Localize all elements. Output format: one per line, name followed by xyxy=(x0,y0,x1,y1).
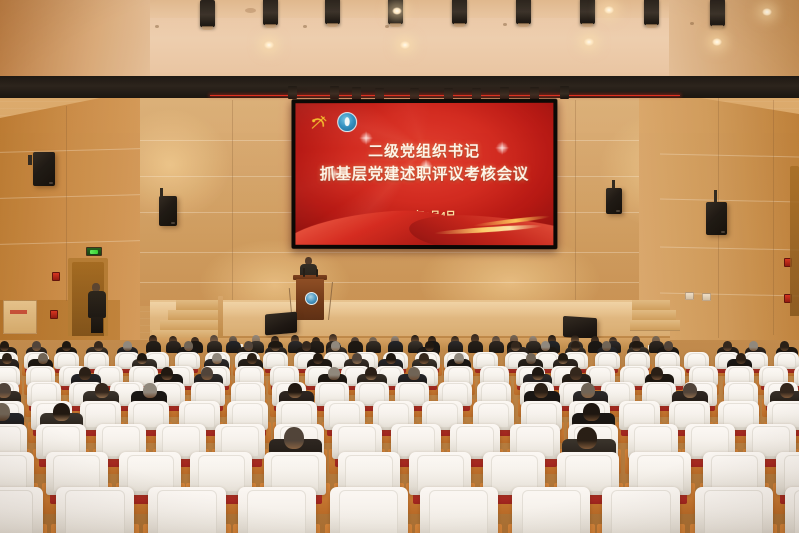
attendee-head xyxy=(79,367,91,380)
wall-speaker xyxy=(606,188,622,214)
attendee-head xyxy=(532,367,544,380)
track-spotlight xyxy=(452,0,467,24)
seat-with-white-cover[interactable] xyxy=(330,487,408,533)
track-spotlight xyxy=(644,0,659,25)
notice-red-text xyxy=(10,310,27,314)
attendee-head xyxy=(534,383,548,398)
stage-step-railing xyxy=(218,296,223,342)
wall-outlet xyxy=(702,293,711,301)
ceiling-sprinkler xyxy=(303,25,307,28)
attendee-head xyxy=(454,353,464,364)
screen-title-line-2: 抓基层党建述职评议考核会议 xyxy=(295,165,553,185)
person-legs xyxy=(91,317,103,333)
wall-panel-seam xyxy=(140,252,660,253)
attendee-head xyxy=(284,427,304,449)
ceiling-sprinkler xyxy=(385,25,389,28)
attendee-head xyxy=(62,341,71,351)
led-screen-frame: 二级党组织书记 抓基层党建述职评议考核会议 2022年1月4日 xyxy=(291,99,557,250)
attendee-head xyxy=(212,353,222,364)
attendee-head xyxy=(651,367,663,380)
attendee-head xyxy=(780,383,794,398)
attendee-head xyxy=(723,341,732,351)
podium-institution-emblem-icon xyxy=(305,292,318,305)
stage-spotlight xyxy=(352,87,361,100)
institution-emblem-icon xyxy=(337,112,357,132)
wall-outlet xyxy=(685,292,694,300)
attendee-head xyxy=(38,353,48,364)
track-spotlight xyxy=(580,0,595,24)
attendee-head xyxy=(0,341,9,351)
attendee-head xyxy=(632,341,641,351)
attendee-head xyxy=(577,427,597,449)
attendee-head xyxy=(583,403,600,421)
attendee-head xyxy=(570,367,582,380)
attendee-head xyxy=(0,383,11,398)
attendee-head xyxy=(137,353,147,364)
attendee-head xyxy=(541,341,550,351)
seat-with-white-cover[interactable] xyxy=(785,487,799,533)
attendee-head xyxy=(161,367,173,380)
fire-alarm-box xyxy=(50,310,58,319)
stage-floor-sheen xyxy=(150,302,670,318)
recessed-downlight xyxy=(712,38,722,46)
screen-title-line-1: 二级党组织书记 xyxy=(295,143,553,162)
wall-speaker xyxy=(159,196,177,226)
led-screen: 二级党组织书记 抓基层党建述职评议考核会议 2022年1月4日 xyxy=(295,103,553,245)
attendee-head xyxy=(184,341,193,351)
seat-with-white-cover[interactable] xyxy=(0,487,43,533)
recessed-downlight xyxy=(584,38,594,46)
track-spotlight xyxy=(710,0,725,26)
screen-title: 二级党组织书记 抓基层党建述职评议考核会议 xyxy=(295,143,553,185)
stage-spotlight xyxy=(560,86,569,99)
seat-with-white-cover[interactable] xyxy=(512,487,590,533)
attendee-head xyxy=(352,353,362,364)
seat-with-white-cover[interactable] xyxy=(238,487,316,533)
attendee-head xyxy=(313,353,323,364)
recessed-downlight xyxy=(400,41,410,49)
attendee-head xyxy=(53,403,70,421)
attendee-head xyxy=(302,341,311,351)
wall-notice-board xyxy=(3,300,37,334)
wall-speaker xyxy=(706,202,727,235)
attendee-head xyxy=(683,383,697,398)
cpc-party-emblem-icon xyxy=(309,114,329,131)
attendee-head xyxy=(749,341,758,351)
wall-panel-seam xyxy=(232,100,233,305)
attendee-head xyxy=(511,341,520,351)
attendee-head xyxy=(123,341,132,351)
screen-logos xyxy=(309,112,357,132)
seat-with-white-cover[interactable] xyxy=(56,487,134,533)
seat-with-white-cover[interactable] xyxy=(695,487,773,533)
attendee-head xyxy=(244,341,253,351)
emergency-exit-icon xyxy=(86,247,102,256)
attendee-head xyxy=(2,353,12,364)
fire-alarm-box xyxy=(52,272,60,281)
seat-with-white-cover[interactable] xyxy=(602,487,680,533)
wall-panel-seam xyxy=(140,282,660,283)
wall-panel-seam xyxy=(66,106,67,301)
track-spotlight xyxy=(516,0,531,24)
attendee-head xyxy=(271,341,280,351)
seat-with-white-cover[interactable] xyxy=(148,487,226,533)
wall-speaker xyxy=(33,152,55,186)
attendee-head xyxy=(581,383,595,398)
microphone xyxy=(316,269,318,277)
attendee-head xyxy=(331,341,340,351)
stage-floor-monitor xyxy=(265,312,297,336)
smoke-detector xyxy=(245,8,256,13)
wall-panel-seam xyxy=(773,100,774,335)
stage-step xyxy=(630,320,680,331)
attendee-head xyxy=(419,353,429,364)
track-spotlight xyxy=(200,0,215,27)
seat-with-white-cover[interactable] xyxy=(420,487,498,533)
recessed-downlight xyxy=(264,41,274,49)
attendee-head xyxy=(32,341,41,351)
attendee-head xyxy=(95,383,109,398)
recessed-downlight xyxy=(604,6,614,14)
attendee-head xyxy=(94,341,103,351)
attendee-head xyxy=(664,341,673,351)
ceiling-sprinkler xyxy=(503,23,507,26)
standing-attendee xyxy=(88,283,106,333)
attendee-head xyxy=(143,383,157,398)
speaker-bracket xyxy=(612,180,615,188)
attendee-head xyxy=(425,341,434,351)
track-spotlight xyxy=(325,0,340,24)
attendee-head xyxy=(558,353,568,364)
attendee-head xyxy=(408,367,420,380)
recessed-downlight xyxy=(762,8,772,16)
attendee-head xyxy=(736,353,746,364)
stage-spotlight xyxy=(330,86,339,99)
stage-spotlight xyxy=(288,86,297,99)
ceiling-sprinkler xyxy=(690,22,694,25)
screen-silk-decoration xyxy=(295,201,553,245)
conference-hall-photo: 二级党组织书记 抓基层党建述职评议考核会议 2022年1月4日 xyxy=(0,0,799,533)
attendee-head xyxy=(386,353,396,364)
attendee-head xyxy=(365,367,377,380)
doorway xyxy=(790,166,799,316)
attendee-head xyxy=(328,367,340,380)
speaker-bracket xyxy=(28,155,32,165)
attendee-head xyxy=(602,341,611,351)
microphone xyxy=(303,268,305,277)
attendee-head xyxy=(247,353,257,364)
ceiling-sprinkler xyxy=(155,25,159,28)
person-torso xyxy=(88,291,106,318)
attendee-head xyxy=(201,367,213,380)
attendee-head xyxy=(526,353,536,364)
attendee-head xyxy=(288,383,302,398)
wall-panel-seam xyxy=(575,100,576,305)
attendee-head xyxy=(780,341,789,351)
track-spotlight xyxy=(263,0,278,25)
recessed-downlight xyxy=(392,7,402,15)
attendee-head xyxy=(571,341,580,351)
